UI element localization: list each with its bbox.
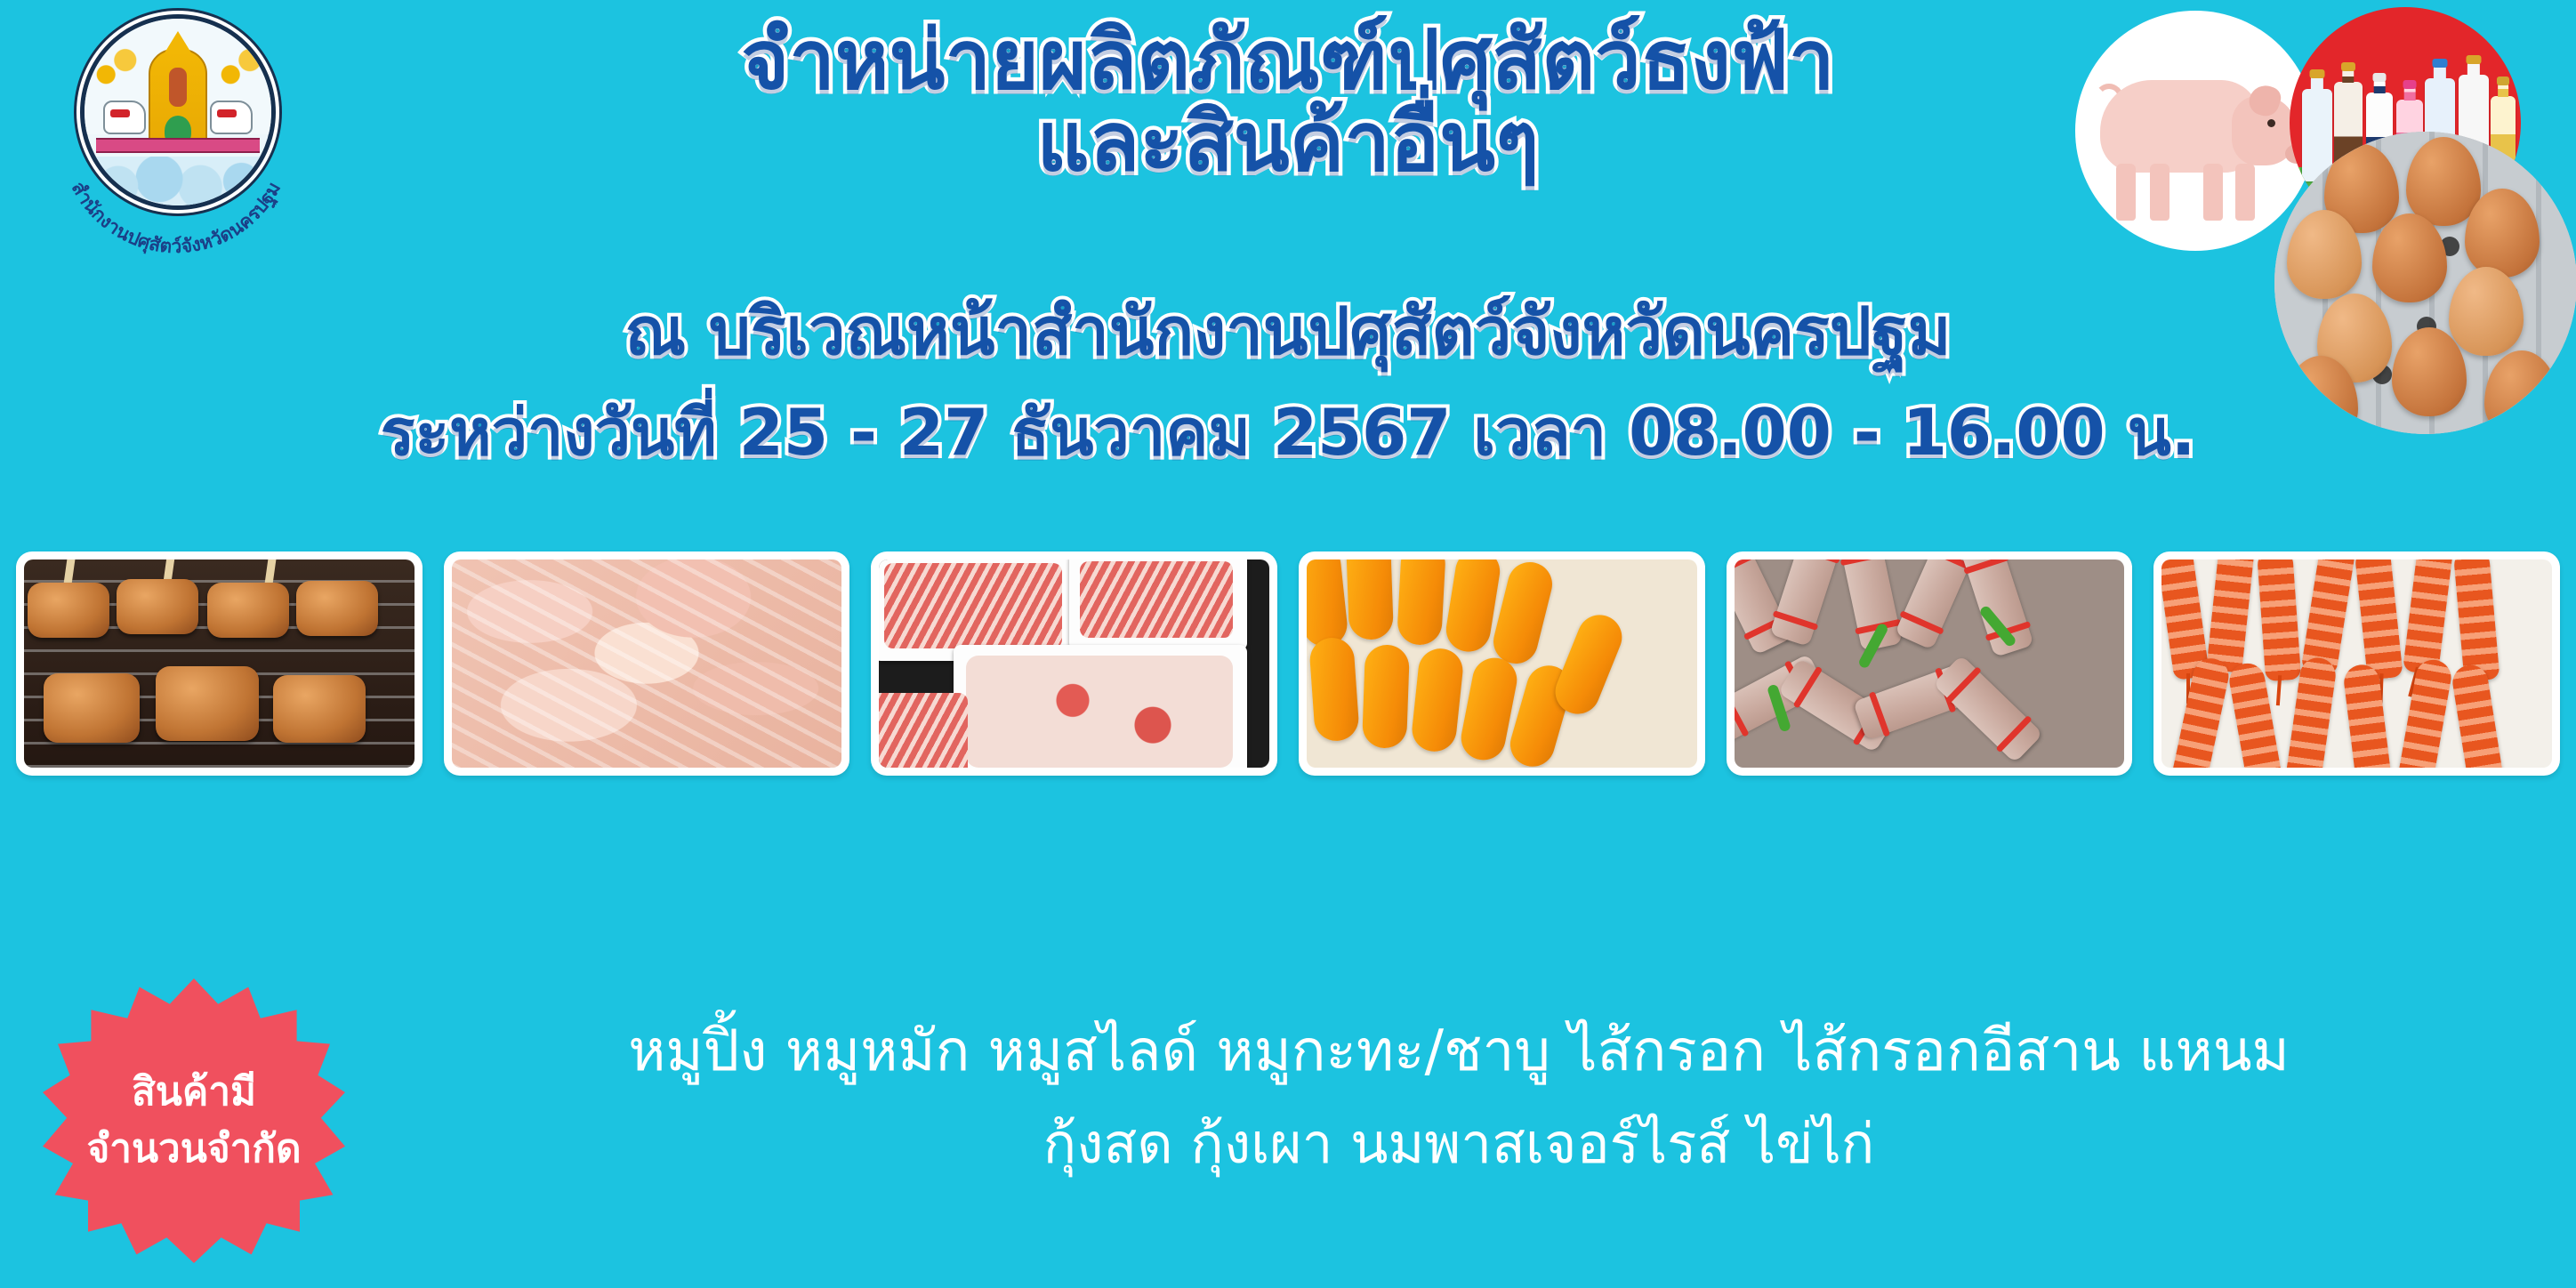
sausage bbox=[1346, 559, 1394, 640]
pig-leg bbox=[2116, 164, 2136, 221]
photo-grilled-pork-image bbox=[24, 559, 415, 768]
photo-sausage bbox=[1299, 551, 1705, 776]
shrimp bbox=[2396, 657, 2454, 768]
shrimp bbox=[2342, 663, 2394, 768]
product-list-line-1: หมูปิ้ง หมูหมัก หมูสไลด์ หมูกะทะ/ชาบู ไส… bbox=[382, 1005, 2535, 1098]
pork-slices bbox=[884, 563, 1062, 648]
photo-sausage-image bbox=[1307, 559, 1697, 768]
bottle-cap bbox=[2310, 69, 2325, 78]
pig-leg bbox=[2235, 164, 2255, 221]
pork-piece bbox=[273, 675, 366, 743]
marinade-sheen bbox=[452, 559, 842, 768]
product-photo-strip bbox=[16, 551, 2560, 776]
naem-roll bbox=[1769, 559, 1843, 647]
sausage bbox=[1549, 608, 1629, 720]
sausage bbox=[1307, 559, 1349, 648]
pork-shoulder bbox=[966, 656, 1233, 768]
pork-piece bbox=[156, 666, 259, 741]
bottle-cap bbox=[2373, 73, 2387, 82]
shrimp bbox=[2301, 559, 2357, 675]
sausage bbox=[1397, 559, 1446, 646]
photo-naem-image bbox=[1735, 559, 2125, 768]
bottle-cap bbox=[2497, 76, 2509, 85]
sausage bbox=[1362, 644, 1410, 749]
shrimp bbox=[2355, 559, 2403, 680]
photo-shrimp bbox=[2153, 551, 2560, 776]
limited-stock-badge: สินค้ามี จำนวนจำกัด bbox=[43, 978, 345, 1263]
shrimp bbox=[2257, 559, 2301, 681]
banner-canvas: สำนักงานปศุสัตว์จังหวัดนครปฐม จำหน่ายผลิ… bbox=[0, 0, 2576, 1288]
badge-line-2: จำนวนจำกัด bbox=[86, 1121, 301, 1178]
photo-marinated-pork-image bbox=[452, 559, 842, 768]
photo-naem bbox=[1727, 551, 2133, 776]
photo-sliced-pork bbox=[871, 551, 1277, 776]
pig-leg bbox=[2150, 164, 2169, 221]
sausage bbox=[1308, 636, 1360, 742]
photo-sliced-pork-image bbox=[879, 559, 1269, 768]
shrimp bbox=[2451, 663, 2507, 768]
pork-piece bbox=[117, 579, 198, 634]
photo-grilled-pork bbox=[16, 551, 423, 776]
pork-piece bbox=[296, 581, 378, 636]
shrimp bbox=[2207, 559, 2256, 673]
bottle-cap bbox=[2341, 62, 2355, 71]
naem-roll bbox=[1960, 559, 2033, 657]
pork-piece bbox=[44, 673, 140, 743]
pork-slices bbox=[1080, 561, 1233, 638]
shrimp bbox=[2453, 559, 2500, 681]
shrimp bbox=[2403, 559, 2454, 675]
product-list-line-2: กุ้งสด กุ้งเผา นมพาสเจอร์ไรส์ ไข่ไก่ bbox=[382, 1098, 2535, 1190]
photo-shrimp-image bbox=[2161, 559, 2552, 768]
product-name-list: หมูปิ้ง หมูหมัก หมูสไลด์ หมูกะทะ/ชาบู ไส… bbox=[382, 1005, 2535, 1190]
pig-eye bbox=[2267, 119, 2275, 127]
pig-leg bbox=[2203, 164, 2223, 221]
sausage bbox=[1410, 647, 1465, 754]
photo-marinated-pork bbox=[444, 551, 850, 776]
headline-line-3-venue: ณ บริเวณหน้าสำนักงานปศุสัตว์จังหวัดนครปฐ… bbox=[0, 294, 2576, 370]
bottle-cap bbox=[2467, 55, 2482, 64]
headline-line-4-datetime: ระหว่างวันที่ 25 - 27 ธันวาคม 2567 เวลา … bbox=[0, 395, 2576, 470]
svg-text:สำนักงานปศุสัตว์จังหวัดนครปฐม: สำนักงานปศุสัตว์จังหวัดนครปฐม bbox=[68, 178, 285, 257]
bottle-cap bbox=[2403, 80, 2417, 89]
eggs-photo bbox=[2274, 132, 2576, 434]
seal-curved-text-label: สำนักงานปศุสัตว์จังหวัดนครปฐม bbox=[68, 178, 285, 257]
pork-slices bbox=[879, 693, 968, 768]
bottle-cap bbox=[2433, 59, 2448, 68]
badge-line-1: สินค้ามี bbox=[132, 1064, 256, 1121]
pork-piece bbox=[207, 583, 289, 638]
pork-piece bbox=[28, 583, 109, 638]
